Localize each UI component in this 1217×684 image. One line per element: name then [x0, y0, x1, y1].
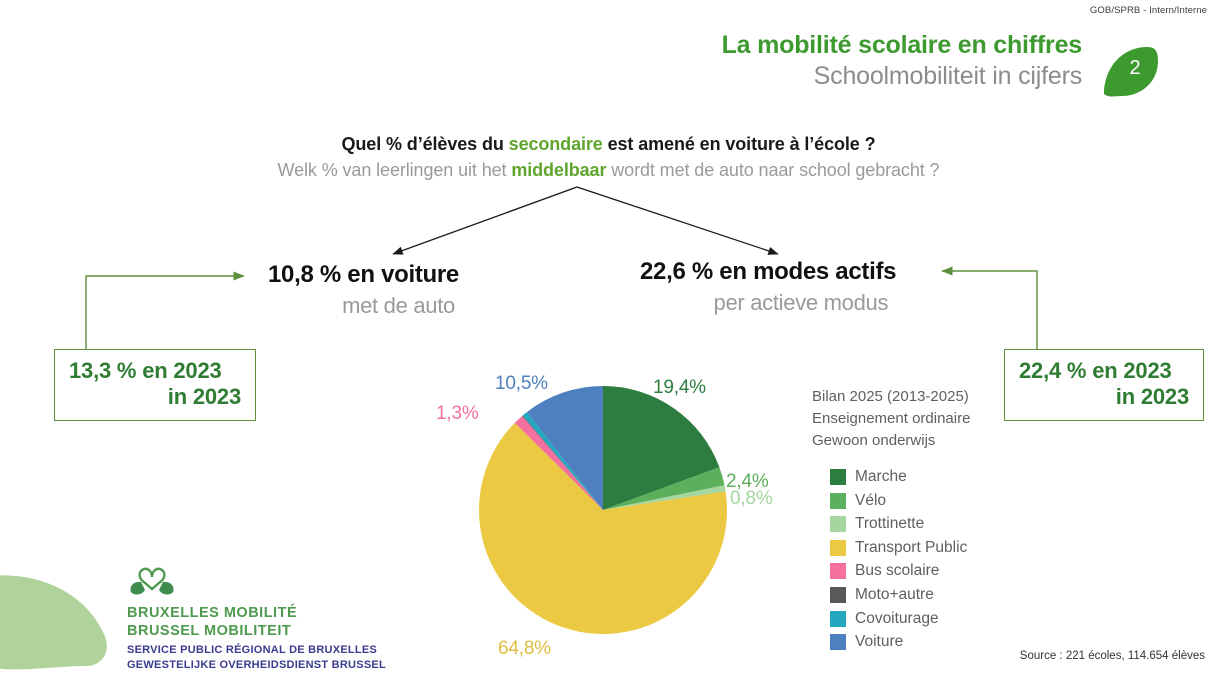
legend-item[interactable]: Voiture: [830, 630, 970, 654]
legend-head-line1: Bilan 2025 (2013-2025): [812, 386, 970, 408]
pie-chart: 19,4%2,4%0,8%64,8%1,3%10,5%: [478, 385, 728, 635]
arrow-to-right-result: [577, 187, 778, 254]
decorative-leaf-shape: [0, 556, 114, 676]
pie-slice-label: 1,3%: [436, 403, 479, 425]
legend-item[interactable]: Marche: [830, 465, 970, 489]
confidentiality-label: GOB/SPRB - Intern/Interne: [1090, 5, 1207, 16]
legend-head-line3: Gewoon onderwijs: [812, 430, 970, 452]
question-nl-before: Welk % van leerlingen uit het: [278, 160, 512, 180]
legend-color-swatch: [830, 540, 846, 556]
callout-box-right: 22,4 % en 2023 in 2023: [1004, 349, 1204, 421]
question-fr-highlight: secondaire: [509, 134, 603, 154]
legend-item-label: Trottinette: [855, 515, 924, 533]
result-right-main: 22,6 % en modes actifs: [640, 258, 896, 286]
legend-color-swatch: [830, 634, 846, 650]
legend-item-label: Covoiturage: [855, 610, 939, 628]
legend-color-swatch: [830, 493, 846, 509]
pie-slice-label: 19,4%: [653, 377, 706, 399]
legend-item-list: MarcheVéloTrottinetteTransport PublicBus…: [830, 465, 970, 654]
legend-item[interactable]: Moto+autre: [830, 583, 970, 607]
result-right-sub: per actieve modus: [640, 290, 896, 316]
question-fr: Quel % d’élèves du secondaire est amené …: [0, 134, 1217, 155]
pie-chart-svg: [478, 385, 728, 635]
question-nl: Welk % van leerlingen uit het middelbaar…: [0, 160, 1217, 181]
page-title-nl: Schoolmobiliteit in cijfers: [722, 61, 1082, 92]
logo-line2: BRUSSEL MOBILITEIT: [127, 622, 386, 640]
brussels-mobility-logo: BRUXELLES MOBILITÉ BRUSSEL MOBILITEIT SE…: [127, 566, 386, 672]
callout-box-left: 13,3 % en 2023 in 2023: [54, 349, 256, 421]
callout-right-line2: in 2023: [1019, 384, 1189, 410]
logo-line3: SERVICE PUBLIC RÉGIONAL DE BRUXELLES: [127, 643, 386, 657]
callout-right-line1: 22,4 % en 2023: [1019, 358, 1189, 384]
title-block: La mobilité scolaire en chiffres Schoolm…: [722, 30, 1082, 91]
pie-slice-label: 10,5%: [495, 373, 548, 395]
question-nl-after: wordt met de auto naar school gebracht ?: [606, 160, 939, 180]
question-nl-highlight: middelbaar: [511, 160, 606, 180]
legend-item[interactable]: Bus scolaire: [830, 560, 970, 584]
legend-color-swatch: [830, 563, 846, 579]
legend-item[interactable]: Covoiturage: [830, 607, 970, 631]
legend-color-swatch: [830, 469, 846, 485]
chart-legend: Bilan 2025 (2013-2025) Enseignement ordi…: [812, 386, 970, 654]
legend-item-label: Moto+autre: [855, 586, 934, 604]
connector-left-box: [86, 276, 244, 349]
question-fr-after: est amené en voiture à l’école ?: [603, 134, 876, 154]
legend-item[interactable]: Transport Public: [830, 536, 970, 560]
pie-slice-label: 64,8%: [498, 638, 551, 660]
arrow-to-left-result: [393, 187, 577, 254]
result-left-main: 10,8 % en voiture: [268, 261, 459, 289]
callout-left-line2: in 2023: [69, 384, 241, 410]
legend-item-label: Transport Public: [855, 539, 967, 557]
legend-item-label: Marche: [855, 468, 907, 486]
legend-head-line2: Enseignement ordinaire: [812, 408, 970, 430]
heart-leaf-logo-icon: [129, 566, 175, 596]
legend-item-label: Voiture: [855, 633, 903, 651]
slide-canvas: GOB/SPRB - Intern/Interne La mobilité sc…: [0, 0, 1217, 684]
logo-line1: BRUXELLES MOBILITÉ: [127, 604, 386, 622]
question-fr-before: Quel % d’élèves du: [341, 134, 508, 154]
legend-item-label: Bus scolaire: [855, 562, 939, 580]
callout-left-line1: 13,3 % en 2023: [69, 358, 241, 384]
legend-item[interactable]: Trottinette: [830, 512, 970, 536]
result-left: 10,8 % en voiture met de auto: [268, 261, 459, 319]
page-title-fr: La mobilité scolaire en chiffres: [722, 30, 1082, 61]
logo-line4: GEWESTELIJKE OVERHEIDSDIENST BRUSSEL: [127, 658, 386, 672]
connector-right-box: [942, 271, 1037, 349]
legend-color-swatch: [830, 516, 846, 532]
result-left-sub: met de auto: [268, 293, 459, 319]
result-right: 22,6 % en modes actifs per actieve modus: [640, 258, 896, 316]
legend-item-label: Vélo: [855, 492, 886, 510]
legend-color-swatch: [830, 611, 846, 627]
legend-color-swatch: [830, 587, 846, 603]
legend-item[interactable]: Vélo: [830, 489, 970, 513]
pie-slice-label: 0,8%: [730, 488, 773, 510]
source-note: Source : 221 écoles, 114.654 élèves: [1020, 650, 1205, 662]
badge-number: 2: [1124, 57, 1146, 80]
